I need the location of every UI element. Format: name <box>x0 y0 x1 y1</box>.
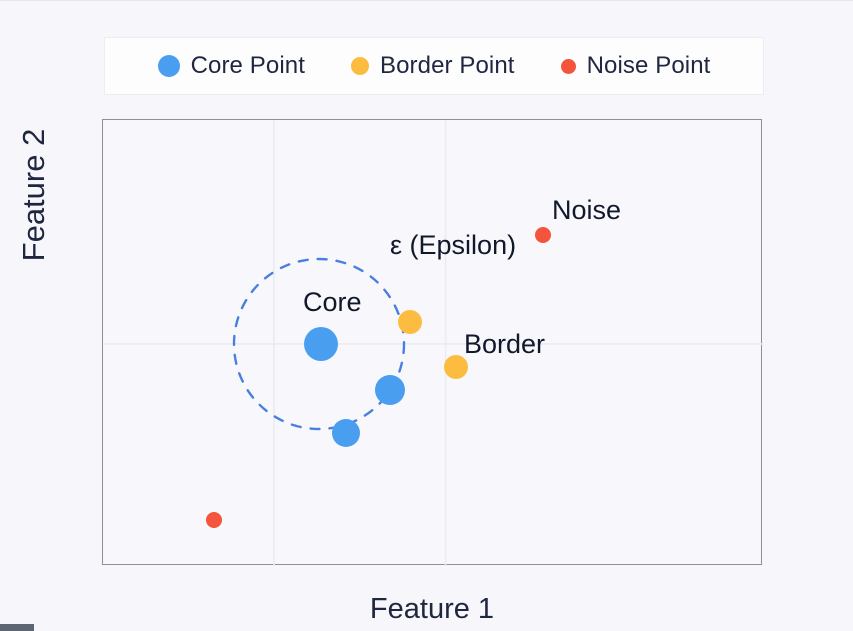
data-point-core-point[interactable] <box>375 375 405 405</box>
data-point-core-point[interactable] <box>304 327 338 361</box>
data-point-noise-point[interactable] <box>206 512 222 528</box>
gridlines <box>103 120 763 566</box>
dbscan-diagram-root: Core Point Border Point Noise Point Core… <box>0 0 853 631</box>
legend-item-core-point[interactable]: Core Point <box>158 52 305 80</box>
horizontal-scrollbar-thumb[interactable] <box>0 624 34 631</box>
legend-label-border-point: Border Point <box>380 52 515 80</box>
legend-label-core-point: Core Point <box>191 52 305 80</box>
scatter-plot-area: Core ε (Epsilon) Noise Border <box>102 119 762 565</box>
data-point-core-point[interactable] <box>332 419 360 447</box>
scatter-plot-canvas <box>103 120 763 566</box>
y-axis-title: Feature 2 <box>16 75 52 315</box>
x-axis-title: Feature 1 <box>102 593 762 626</box>
circle-marker-blue-icon <box>158 55 180 77</box>
legend-item-border-point[interactable]: Border Point <box>351 52 515 80</box>
data-point-noise-point[interactable] <box>535 227 551 243</box>
circle-marker-orange-icon <box>351 57 369 75</box>
legend-item-noise-point[interactable]: Noise Point <box>561 52 711 80</box>
circle-marker-red-icon <box>561 59 576 74</box>
chart-legend: Core Point Border Point Noise Point <box>104 37 764 95</box>
data-point-border-point[interactable] <box>398 310 422 334</box>
data-point-border-point[interactable] <box>444 355 468 379</box>
legend-label-noise-point: Noise Point <box>587 52 711 80</box>
data-points <box>206 227 551 528</box>
